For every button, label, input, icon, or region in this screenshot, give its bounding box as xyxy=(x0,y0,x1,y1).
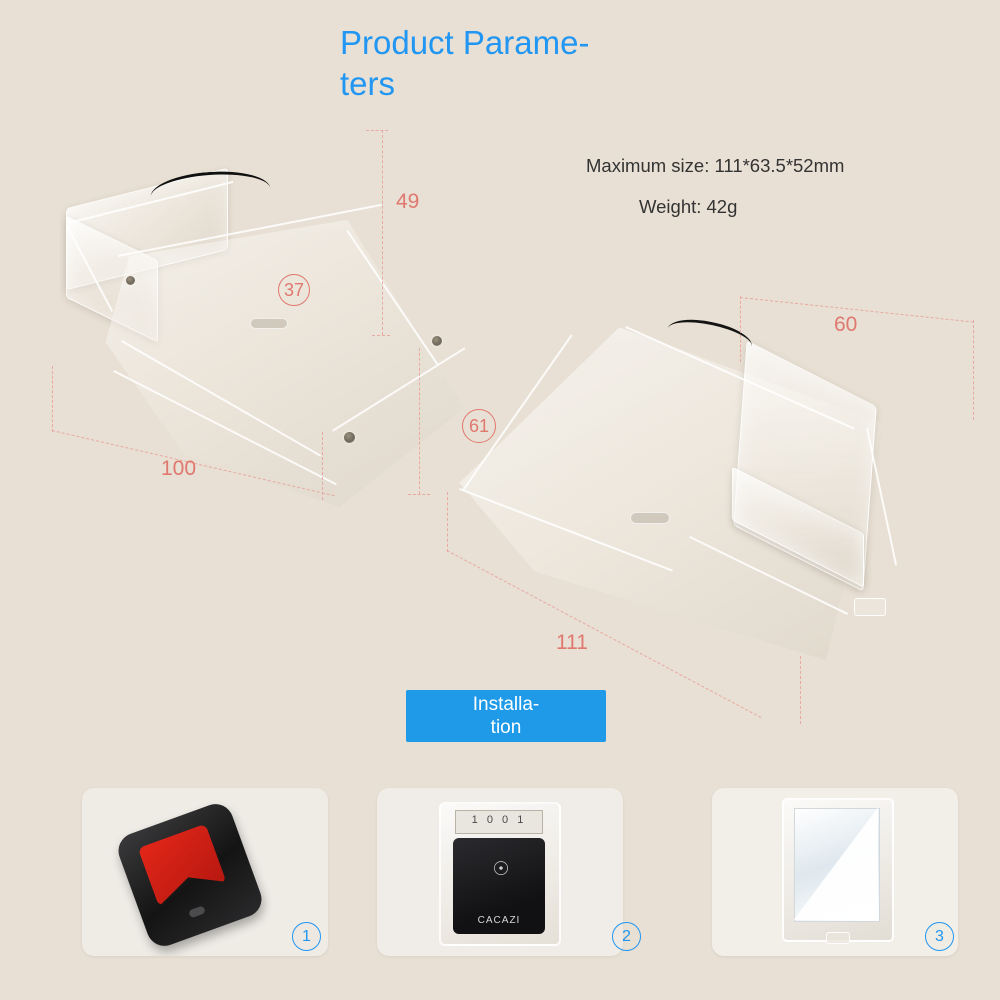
step-2-number: 2 xyxy=(612,922,641,951)
bell-transmitter-cover: 1 0 0 1 ☉ CACAZI xyxy=(439,802,561,946)
dimline-61-vertical xyxy=(419,348,420,494)
remote-control-body xyxy=(113,799,266,951)
spec-weight: Weight: 42g xyxy=(639,196,737,218)
remote-red-button xyxy=(138,824,227,907)
bell-code-window: 1 0 0 1 xyxy=(455,810,543,834)
dimline-60-left-tick xyxy=(740,296,741,362)
product-right-slot xyxy=(630,512,670,524)
product-left-slot xyxy=(250,318,288,329)
product-right-edge-5 xyxy=(866,428,897,565)
dimension-label-61: 61 xyxy=(462,409,496,443)
dimline-49-vertical xyxy=(382,130,383,335)
wall-switch-mount-tab xyxy=(826,932,850,944)
product-photo-right-view xyxy=(440,300,960,720)
bell-brand-label: CACAZI xyxy=(453,915,545,926)
dimension-label-60: 60 xyxy=(834,313,857,337)
product-right-antenna-wire xyxy=(667,313,755,349)
product-left-screw-3 xyxy=(344,432,355,443)
dimline-111-right-tick xyxy=(800,656,801,724)
dimtick-61-bottom xyxy=(408,494,430,495)
bell-icon: ☉ xyxy=(491,860,511,880)
wall-switch-highlight xyxy=(794,808,878,920)
product-left-antenna-wire xyxy=(149,168,270,201)
remote-led xyxy=(188,905,206,918)
dimline-100-left-tick xyxy=(52,366,53,432)
install-step-2-image[interactable]: 1 0 0 1 ☉ CACAZI xyxy=(377,788,623,956)
page-title: Product Parame-ters xyxy=(340,22,650,105)
installation-button[interactable]: Installa-tion xyxy=(406,690,606,742)
dimline-60-right-tick xyxy=(973,320,974,420)
dimension-label-37: 37 xyxy=(278,274,310,306)
dimtick-49-top xyxy=(366,130,388,131)
dimension-label-100: 100 xyxy=(161,457,196,481)
step-3-photo xyxy=(712,788,958,956)
spec-max-size: Maximum size: 111*63.5*52mm xyxy=(586,155,844,177)
dimtick-49-bottom xyxy=(372,335,390,336)
wall-switch-cover xyxy=(782,798,894,942)
step-2-photo: 1 0 0 1 ☉ CACAZI xyxy=(377,788,623,956)
step-1-photo xyxy=(82,788,328,956)
product-left-screw-1 xyxy=(126,276,135,285)
install-step-3-image[interactable] xyxy=(712,788,958,956)
bell-code-text: 1 0 0 1 xyxy=(456,814,542,826)
bell-front-panel: ☉ CACAZI xyxy=(453,838,545,934)
dimension-label-49: 49 xyxy=(396,190,419,214)
product-right-mount-tab xyxy=(854,598,886,616)
step-3-number: 3 xyxy=(925,922,954,951)
dimline-100-right-tick xyxy=(322,432,323,500)
product-parameters-page: Product Parame-ters Maximum size: 111*63… xyxy=(0,0,1000,1000)
dimension-label-111: 111 xyxy=(556,631,588,655)
install-step-1-image[interactable] xyxy=(82,788,328,956)
dimline-111-left-tick xyxy=(447,492,448,552)
step-1-number: 1 xyxy=(292,922,321,951)
